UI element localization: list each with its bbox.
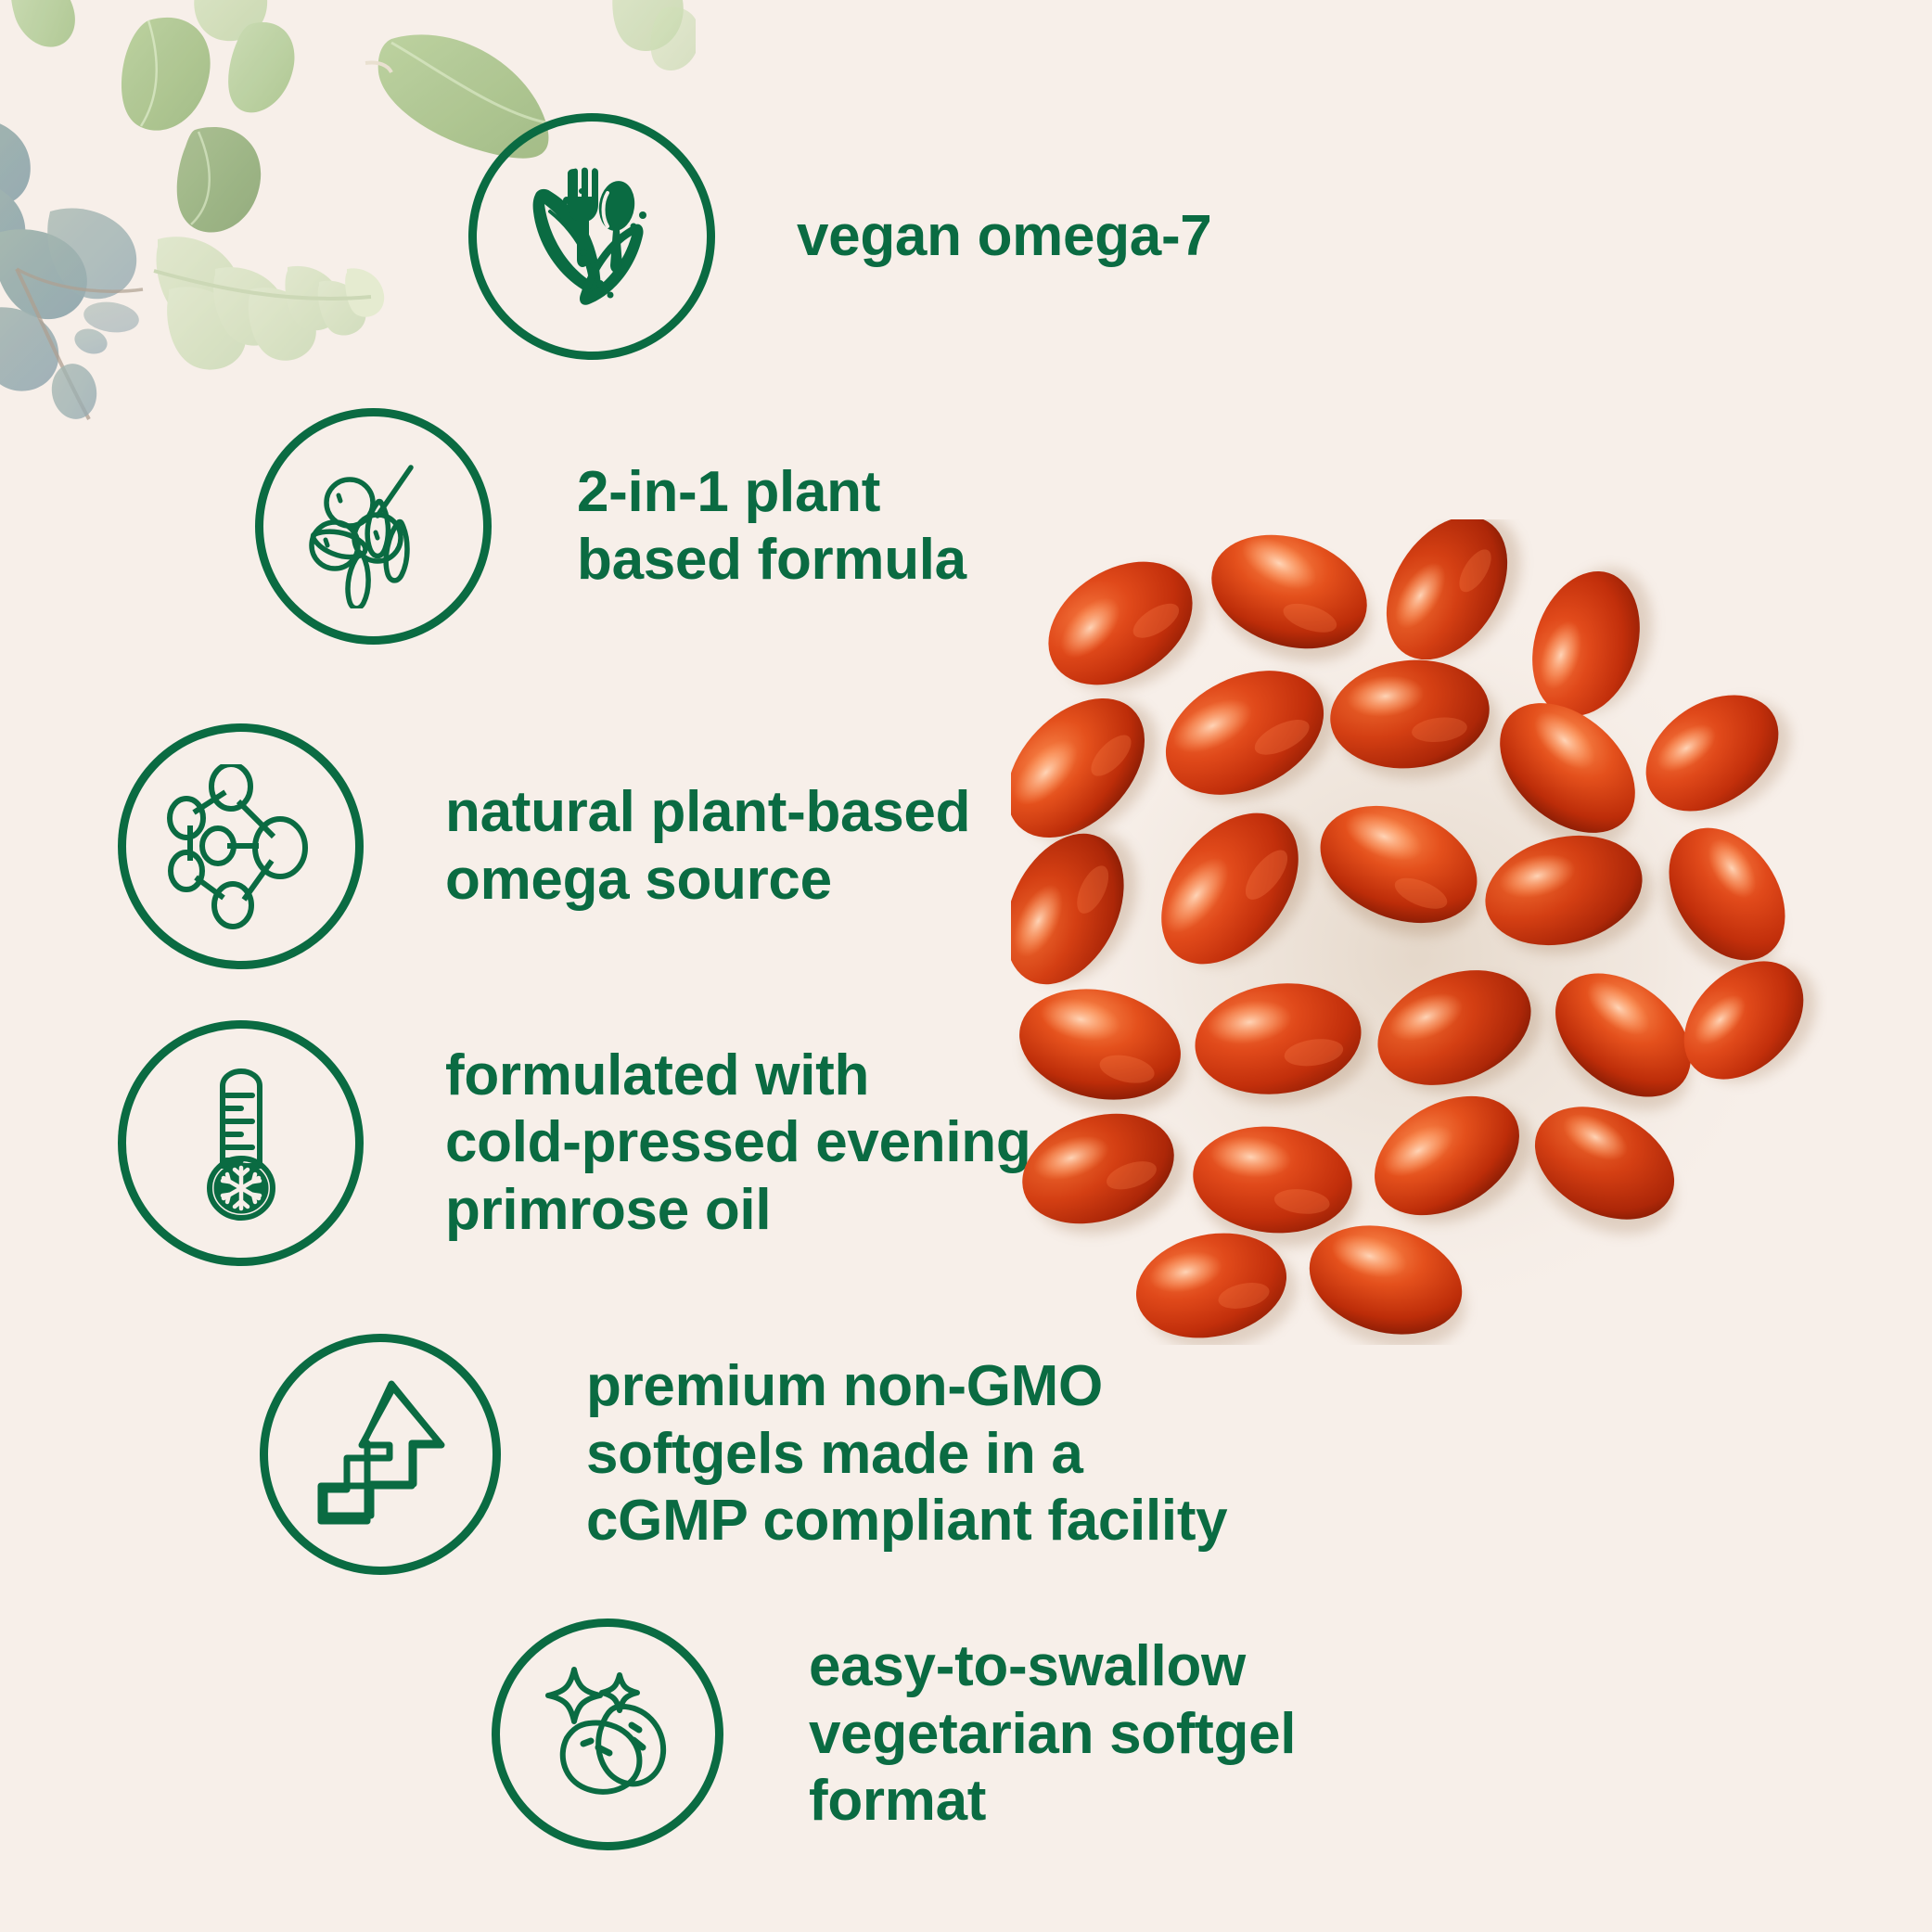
feature-icon-circle: [118, 1020, 364, 1266]
product-softgel-pile: [1011, 519, 1827, 1345]
feature-item-cold-pressed-primrose: formulated with cold-pressed evening pri…: [118, 1020, 1030, 1266]
feature-item-natural-omega-source: natural plant-based omega source: [118, 723, 970, 969]
feature-item-2-in-1-plant-based: 2-in-1 plant based formula: [255, 408, 966, 645]
berries-sea-buckthorn-icon: [292, 445, 455, 608]
feature-label: vegan omega-7: [797, 203, 1211, 271]
feature-label: natural plant-based omega source: [445, 779, 970, 914]
feature-icon-circle: [118, 723, 364, 969]
infographic-canvas: vegan omega-7: [0, 0, 1932, 1932]
feature-icon-circle: [468, 113, 715, 360]
feature-icon-circle: [260, 1334, 501, 1575]
feature-label: formulated with cold-pressed evening pri…: [445, 1043, 1030, 1245]
feature-label: easy-to-swallow vegetarian softgel forma…: [809, 1633, 1296, 1836]
zigzag-up-arrow-icon: [301, 1375, 460, 1534]
molecule-icon: [159, 764, 324, 929]
feature-icon-circle: [255, 408, 492, 645]
softgel-capsules-sparkle-icon: [530, 1657, 685, 1812]
thermometer-snowflake-icon: [161, 1064, 321, 1223]
feature-item-non-gmo-cgmp: premium non-GMO softgels made in a cGMP …: [260, 1334, 1227, 1575]
feature-label: premium non-GMO softgels made in a cGMP …: [586, 1353, 1227, 1555]
leaf-fork-spoon-icon: [504, 148, 680, 325]
feature-label: 2-in-1 plant based formula: [577, 459, 966, 594]
feature-item-easy-to-swallow: easy-to-swallow vegetarian softgel forma…: [492, 1619, 1296, 1850]
feature-item-vegan-omega-7: vegan omega-7: [468, 113, 1211, 360]
feature-icon-circle: [492, 1619, 723, 1850]
